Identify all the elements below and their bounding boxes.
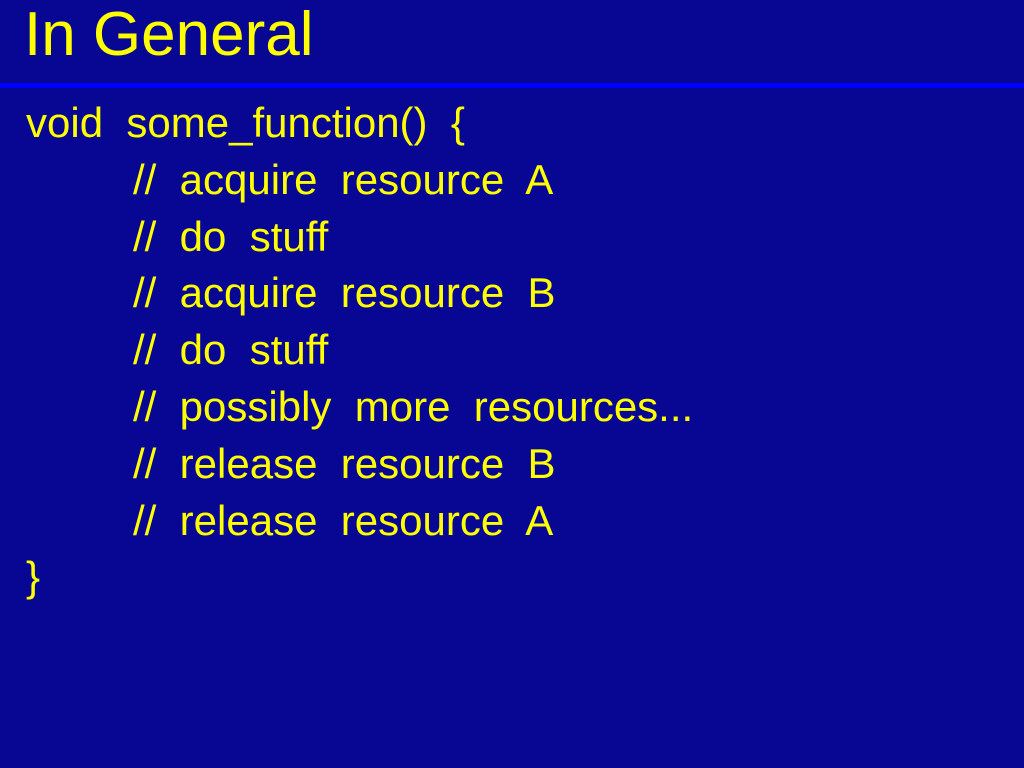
code-line: // acquire resource B [0,265,1024,322]
slide: In General void some_function() { // acq… [0,0,1024,768]
code-line: // do stuff [0,209,1024,266]
page-title: In General [24,0,314,71]
code-block: void some_function() { // acquire resour… [0,95,1024,606]
code-line: // release resource B [0,436,1024,493]
code-line: // do stuff [0,322,1024,379]
code-line: // possibly more resources... [0,379,1024,436]
code-line: // release resource A [0,493,1024,550]
code-line: void some_function() { [0,95,1024,152]
code-line: } [0,549,1024,606]
code-line: // acquire resource A [0,152,1024,209]
title-divider [0,83,1024,88]
